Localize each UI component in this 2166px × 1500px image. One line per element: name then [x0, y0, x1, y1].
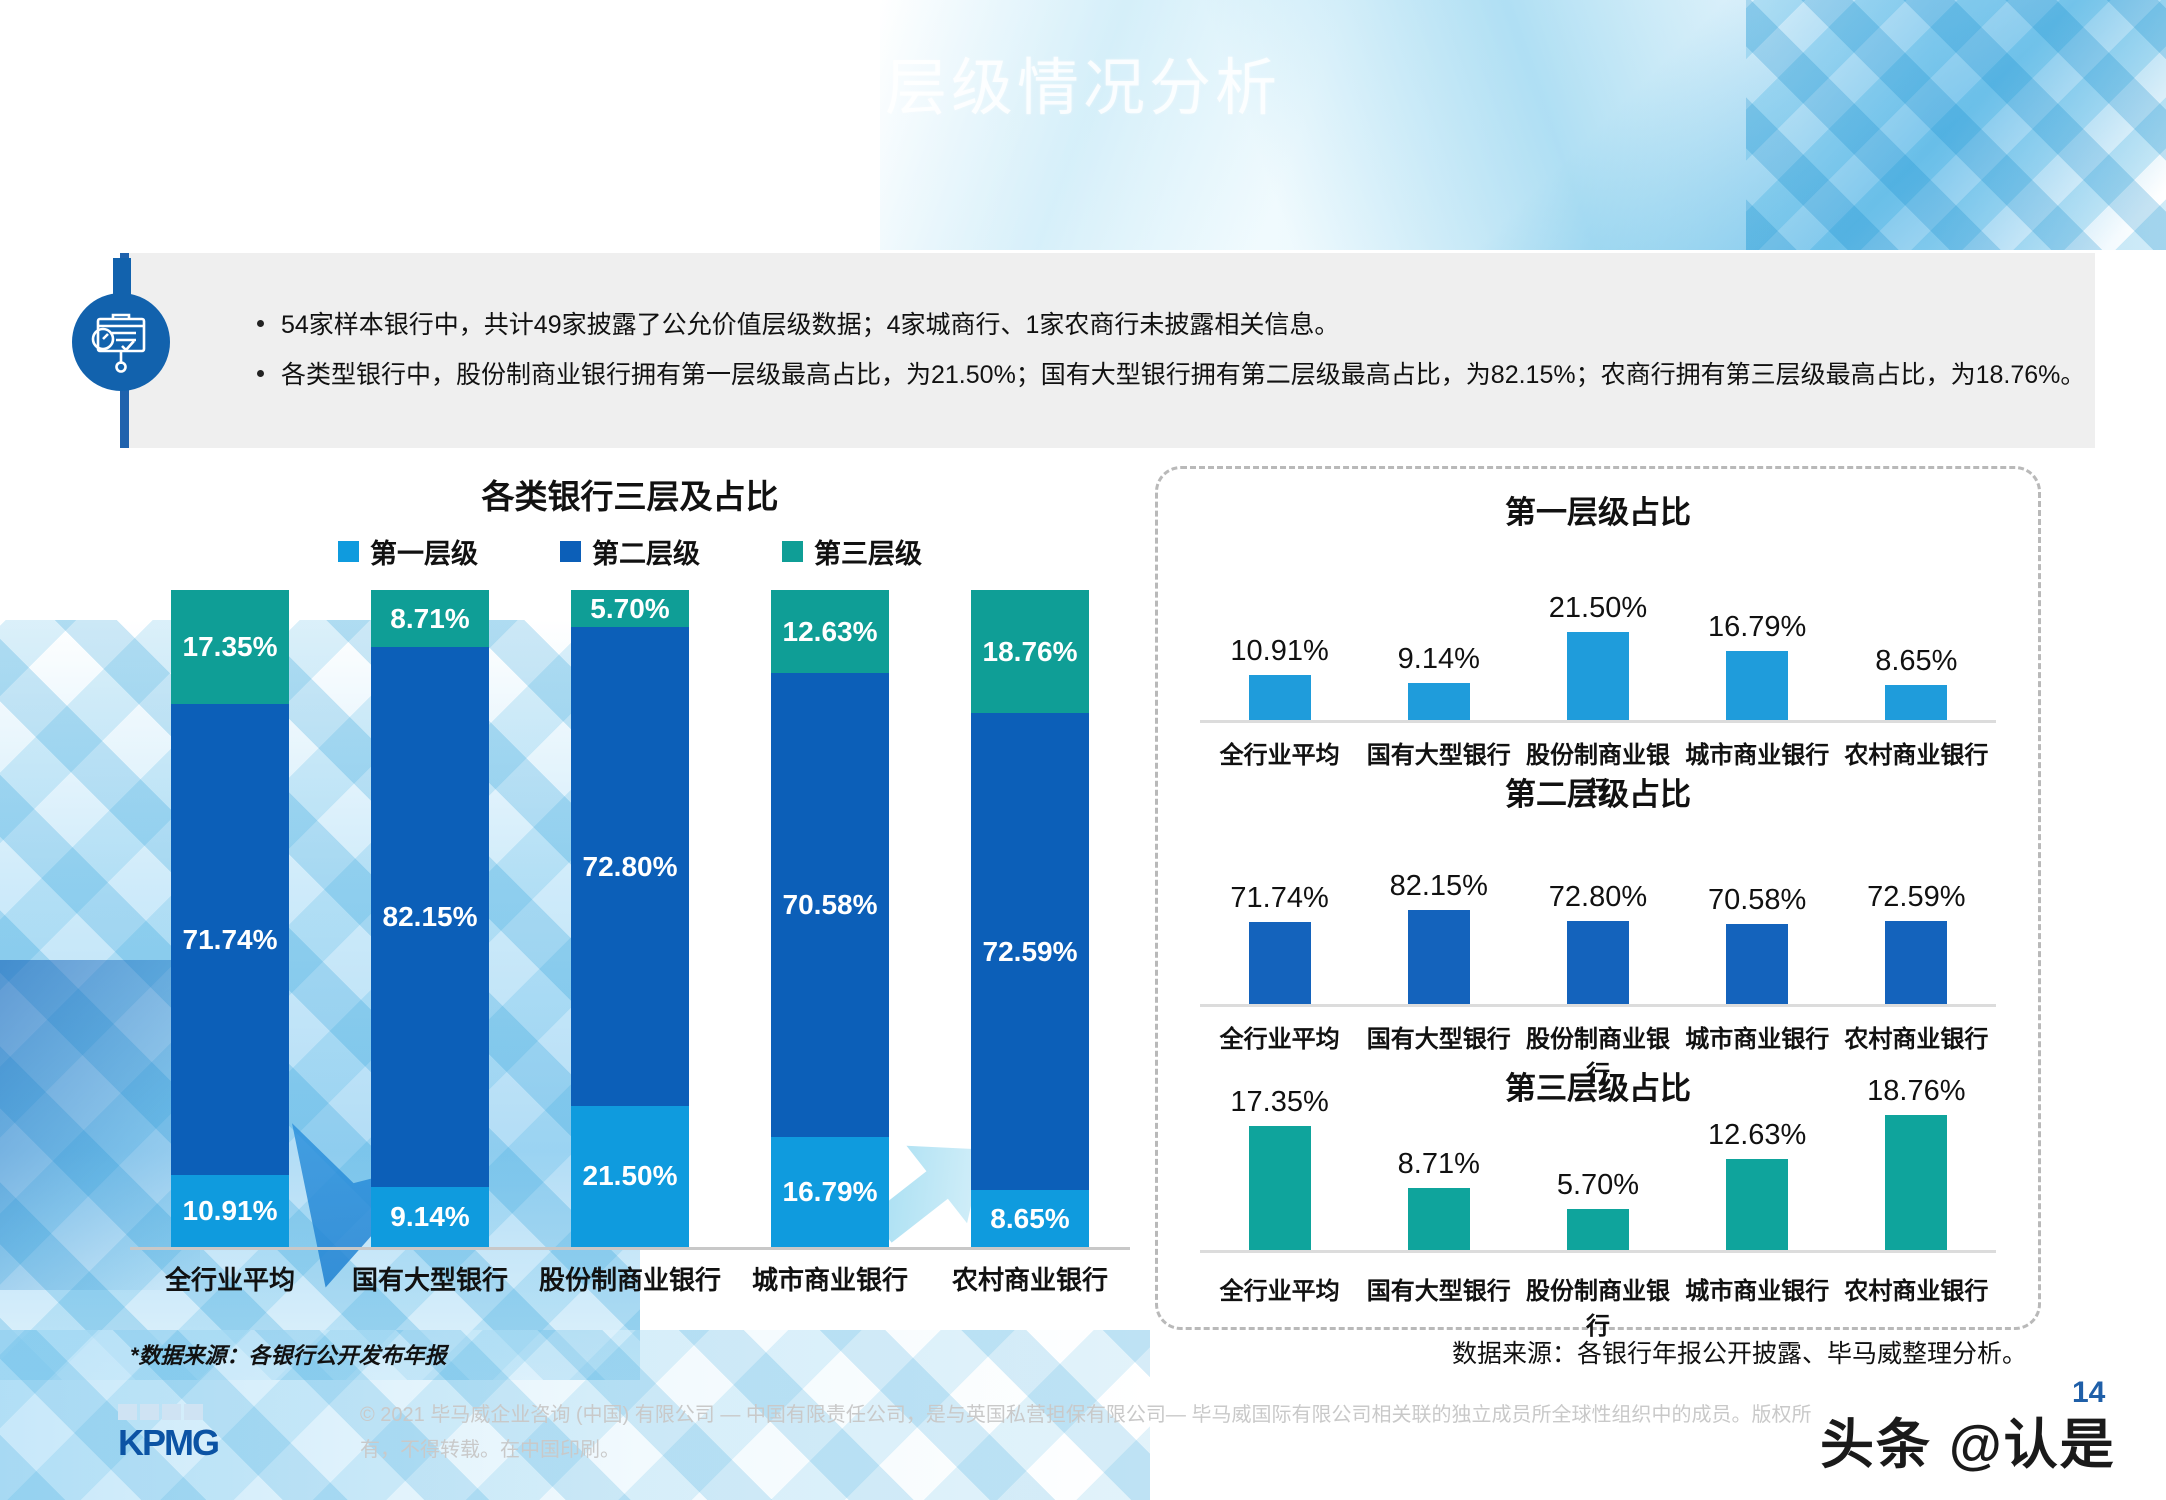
stacked-segment-label: 72.59%	[983, 936, 1078, 968]
tier2-bar-columns: 71.74%82.15%72.80%70.58%72.59%	[1200, 879, 1996, 1004]
tier1-axis-line	[1200, 720, 1996, 723]
tier2-bar-2	[1408, 910, 1470, 1004]
tier2-bar-5	[1885, 921, 1947, 1004]
presentation-board-icon	[72, 293, 170, 391]
tier3-bar-1	[1249, 1126, 1311, 1250]
tier1-bar-wrap-4: 16.79%	[1682, 595, 1832, 720]
tier2-bar-3	[1567, 921, 1629, 1004]
tier3-bar-wrap-2: 8.71%	[1364, 1075, 1514, 1250]
tier3-x-label-2: 国有大型银行	[1359, 1271, 1518, 1341]
tier3-value-label-4: 12.63%	[1708, 1119, 1806, 1152]
tier2-axis-line	[1200, 1004, 1996, 1007]
stacked-x-label-5: 农村商业银行	[935, 1260, 1125, 1297]
stacked-segment-label: 10.91%	[183, 1195, 278, 1227]
tier3-bar-wrap-3: 5.70%	[1523, 1075, 1673, 1250]
tier2-chart: 第二层级占比 71.74%82.15%72.80%70.58%72.59% 全行…	[1158, 769, 2038, 1041]
tier3-bar-wrap-1: 17.35%	[1205, 1075, 1355, 1250]
tier3-value-label-5: 18.76%	[1867, 1075, 1965, 1108]
tier3-bar-wrap-5: 18.76%	[1841, 1075, 1991, 1250]
callout-bullet-1: 54家样本银行中，共计49家披露了公允价值层级数据；4家城商行、1家农商行未披露…	[255, 305, 2095, 346]
tier2-bar-4	[1726, 924, 1788, 1004]
tier1-bar-wrap-1: 10.91%	[1205, 595, 1355, 720]
tier3-value-label-3: 5.70%	[1557, 1169, 1639, 1202]
tier-breakdown-panel: 第一层级占比 10.91%9.14%21.50%16.79%8.65% 全行业平…	[1155, 466, 2041, 1330]
stacked-segment-第二层级: 72.80%	[571, 627, 689, 1105]
stacked-segment-第三层级: 17.35%	[171, 590, 289, 704]
stacked-segment-第一层级: 8.65%	[971, 1190, 1089, 1247]
stacked-bar-5: 18.76%72.59%8.65%	[971, 590, 1089, 1247]
tier2-value-label-4: 70.58%	[1708, 884, 1806, 917]
stacked-segment-第二层级: 71.74%	[171, 704, 289, 1175]
tier1-value-label-2: 9.14%	[1398, 643, 1480, 676]
tier1-bar-1	[1249, 675, 1311, 720]
stacked-segment-label: 72.80%	[583, 851, 678, 883]
tier1-value-label-3: 21.50%	[1549, 592, 1647, 625]
tier2-bar-wrap-4: 70.58%	[1682, 879, 1832, 1004]
watermark-text: 头条 @认是	[1820, 1400, 2116, 1479]
copyright-text: © 2021 毕马威企业咨询 (中国) 有限公司 — 中国有限责任公司，是与英国…	[360, 1398, 1840, 1468]
stacked-segment-label: 9.14%	[390, 1201, 469, 1233]
tier2-value-label-2: 82.15%	[1390, 870, 1488, 903]
tier2-value-label-3: 72.80%	[1549, 881, 1647, 914]
tier3-bar-wrap-4: 12.63%	[1682, 1075, 1832, 1250]
stacked-chart-legend: 第一层级 第二层级 第三层级	[130, 532, 1130, 571]
stacked-x-label-4: 城市商业银行	[735, 1260, 925, 1297]
stacked-x-label-2: 国有大型银行	[335, 1260, 525, 1297]
stacked-bar-columns: 17.35%71.74%10.91%8.71%82.15%9.14%5.70%7…	[130, 590, 1130, 1247]
legend-label-tier1: 第一层级	[370, 532, 478, 571]
stacked-segment-label: 18.76%	[983, 636, 1078, 668]
stacked-segment-第一层级: 9.14%	[371, 1187, 489, 1247]
tier1-bar-wrap-2: 9.14%	[1364, 595, 1514, 720]
tier3-x-label-4: 城市商业银行	[1678, 1271, 1837, 1341]
legend-label-tier2: 第二层级	[592, 532, 700, 571]
tier1-value-label-1: 10.91%	[1230, 635, 1328, 668]
callout-bullet-2: 各类型银行中，股份制商业银行拥有第一层级最高占比，为21.50%；国有大型银行拥…	[255, 355, 2095, 396]
tier3-x-axis-labels: 全行业平均国有大型银行股份制商业银行城市商业银行农村商业银行	[1200, 1271, 1996, 1341]
tier2-value-label-1: 71.74%	[1230, 882, 1328, 915]
stacked-segment-label: 82.15%	[383, 901, 478, 933]
tier2-value-label-5: 72.59%	[1867, 881, 1965, 914]
tier3-axis-line	[1200, 1250, 1996, 1253]
tier3-bar-2	[1408, 1188, 1470, 1250]
stacked-plot-area: 17.35%71.74%10.91%8.71%82.15%9.14%5.70%7…	[130, 590, 1130, 1250]
tier1-chart: 第一层级占比 10.91%9.14%21.50%16.79%8.65% 全行业平…	[1158, 487, 2038, 757]
stacked-segment-第三层级: 12.63%	[771, 590, 889, 673]
stacked-segment-第一层级: 10.91%	[171, 1175, 289, 1247]
stacked-segment-label: 8.71%	[390, 603, 469, 635]
header-geometric-pattern	[880, 0, 2166, 250]
tier1-value-label-4: 16.79%	[1708, 611, 1806, 644]
stacked-segment-第三层级: 5.70%	[571, 590, 689, 627]
tier2-bar-1	[1249, 922, 1311, 1004]
legend-label-tier3: 第三层级	[814, 532, 922, 571]
tier2-bar-wrap-5: 72.59%	[1841, 879, 1991, 1004]
kpmg-logo-blocks	[118, 1404, 203, 1420]
tier2-bar-wrap-1: 71.74%	[1205, 879, 1355, 1004]
kpmg-logo: KPMG	[118, 1404, 228, 1456]
stacked-segment-label: 16.79%	[783, 1176, 878, 1208]
panel-source-note: 数据来源：各银行年报公开披露、毕马威整理分析。	[1452, 1334, 2027, 1370]
tier1-value-label-5: 8.65%	[1875, 645, 1957, 678]
page-title: 层级情况分析	[0, 58, 2166, 120]
stacked-segment-第一层级: 16.79%	[771, 1137, 889, 1247]
tier1-bar-5	[1885, 685, 1947, 720]
legend-item-tier1: 第一层级	[338, 532, 478, 571]
legend-item-tier2: 第二层级	[560, 532, 700, 571]
stacked-segment-label: 21.50%	[583, 1160, 678, 1192]
kpmg-wordmark: KPMG	[118, 1422, 218, 1464]
stacked-bar-1: 17.35%71.74%10.91%	[171, 590, 289, 1247]
stacked-chart-source-note: *数据来源：各银行公开发布年报	[130, 1338, 447, 1370]
legend-swatch-tier1	[338, 541, 359, 562]
tier3-value-label-2: 8.71%	[1398, 1148, 1480, 1181]
stacked-bar-chart: 各类银行三层及占比 第一层级 第二层级 第三层级 17.35%71.74%10.…	[130, 470, 1130, 1330]
stacked-segment-第二层级: 70.58%	[771, 673, 889, 1137]
stacked-axis-line	[130, 1247, 1130, 1250]
stacked-x-label-3: 股份制商业银行	[535, 1260, 725, 1297]
stacked-segment-第二层级: 72.59%	[971, 713, 1089, 1190]
stacked-segment-label: 5.70%	[590, 593, 669, 625]
tier1-bar-3	[1567, 632, 1629, 720]
stacked-x-label-1: 全行业平均	[135, 1260, 325, 1297]
tier3-x-label-3: 股份制商业银行	[1518, 1271, 1677, 1341]
tier2-bar-wrap-3: 72.80%	[1523, 879, 1673, 1004]
tier3-bar-4	[1726, 1159, 1788, 1250]
tier3-bar-5	[1885, 1115, 1947, 1250]
stacked-bar-4: 12.63%70.58%16.79%	[771, 590, 889, 1247]
stacked-segment-第三层级: 18.76%	[971, 590, 1089, 713]
tier3-x-label-5: 农村商业银行	[1837, 1271, 1996, 1341]
tier1-bar-4	[1726, 651, 1788, 720]
stacked-chart-title: 各类银行三层及占比	[130, 470, 1130, 518]
tier3-x-label-1: 全行业平均	[1200, 1271, 1359, 1341]
stacked-segment-第二层级: 82.15%	[371, 647, 489, 1187]
tier1-plot-area: 10.91%9.14%21.50%16.79%8.65%	[1200, 595, 1996, 723]
tier1-chart-title: 第一层级占比	[1158, 487, 2038, 532]
tier2-chart-title: 第二层级占比	[1158, 769, 2038, 814]
legend-item-tier3: 第三层级	[782, 532, 922, 571]
stacked-segment-label: 70.58%	[783, 889, 878, 921]
legend-swatch-tier3	[782, 541, 803, 562]
stacked-bar-2: 8.71%82.15%9.14%	[371, 590, 489, 1247]
tier1-bar-2	[1408, 683, 1470, 720]
tier3-plot-area: 17.35%8.71%5.70%12.63%18.76%	[1200, 1075, 1996, 1253]
tier3-chart: 第三层级占比 17.35%8.71%5.70%12.63%18.76% 全行业平…	[1158, 1053, 2038, 1325]
stacked-bar-3: 5.70%72.80%21.50%	[571, 590, 689, 1247]
legend-swatch-tier2	[560, 541, 581, 562]
tier2-plot-area: 71.74%82.15%72.80%70.58%72.59%	[1200, 879, 1996, 1007]
tier1-bar-wrap-3: 21.50%	[1523, 595, 1673, 720]
stacked-segment-label: 17.35%	[183, 631, 278, 663]
stacked-segment-第一层级: 21.50%	[571, 1106, 689, 1247]
tier1-bar-wrap-5: 8.65%	[1841, 595, 1991, 720]
callout-bullet-list: 54家样本银行中，共计49家披露了公允价值层级数据；4家城商行、1家农商行未披露…	[215, 305, 2095, 404]
tier1-bar-columns: 10.91%9.14%21.50%16.79%8.65%	[1200, 595, 1996, 720]
tier3-bar-3	[1567, 1209, 1629, 1250]
tier3-value-label-1: 17.35%	[1230, 1086, 1328, 1119]
tier2-bar-wrap-2: 82.15%	[1364, 879, 1514, 1004]
tier3-bar-columns: 17.35%8.71%5.70%12.63%18.76%	[1200, 1075, 1996, 1250]
stacked-x-axis-labels: 全行业平均国有大型银行股份制商业银行城市商业银行农村商业银行	[130, 1260, 1130, 1297]
stacked-segment-label: 71.74%	[183, 924, 278, 956]
stacked-segment-label: 12.63%	[783, 616, 878, 648]
stacked-segment-第三层级: 8.71%	[371, 590, 489, 647]
stacked-segment-label: 8.65%	[990, 1203, 1069, 1235]
